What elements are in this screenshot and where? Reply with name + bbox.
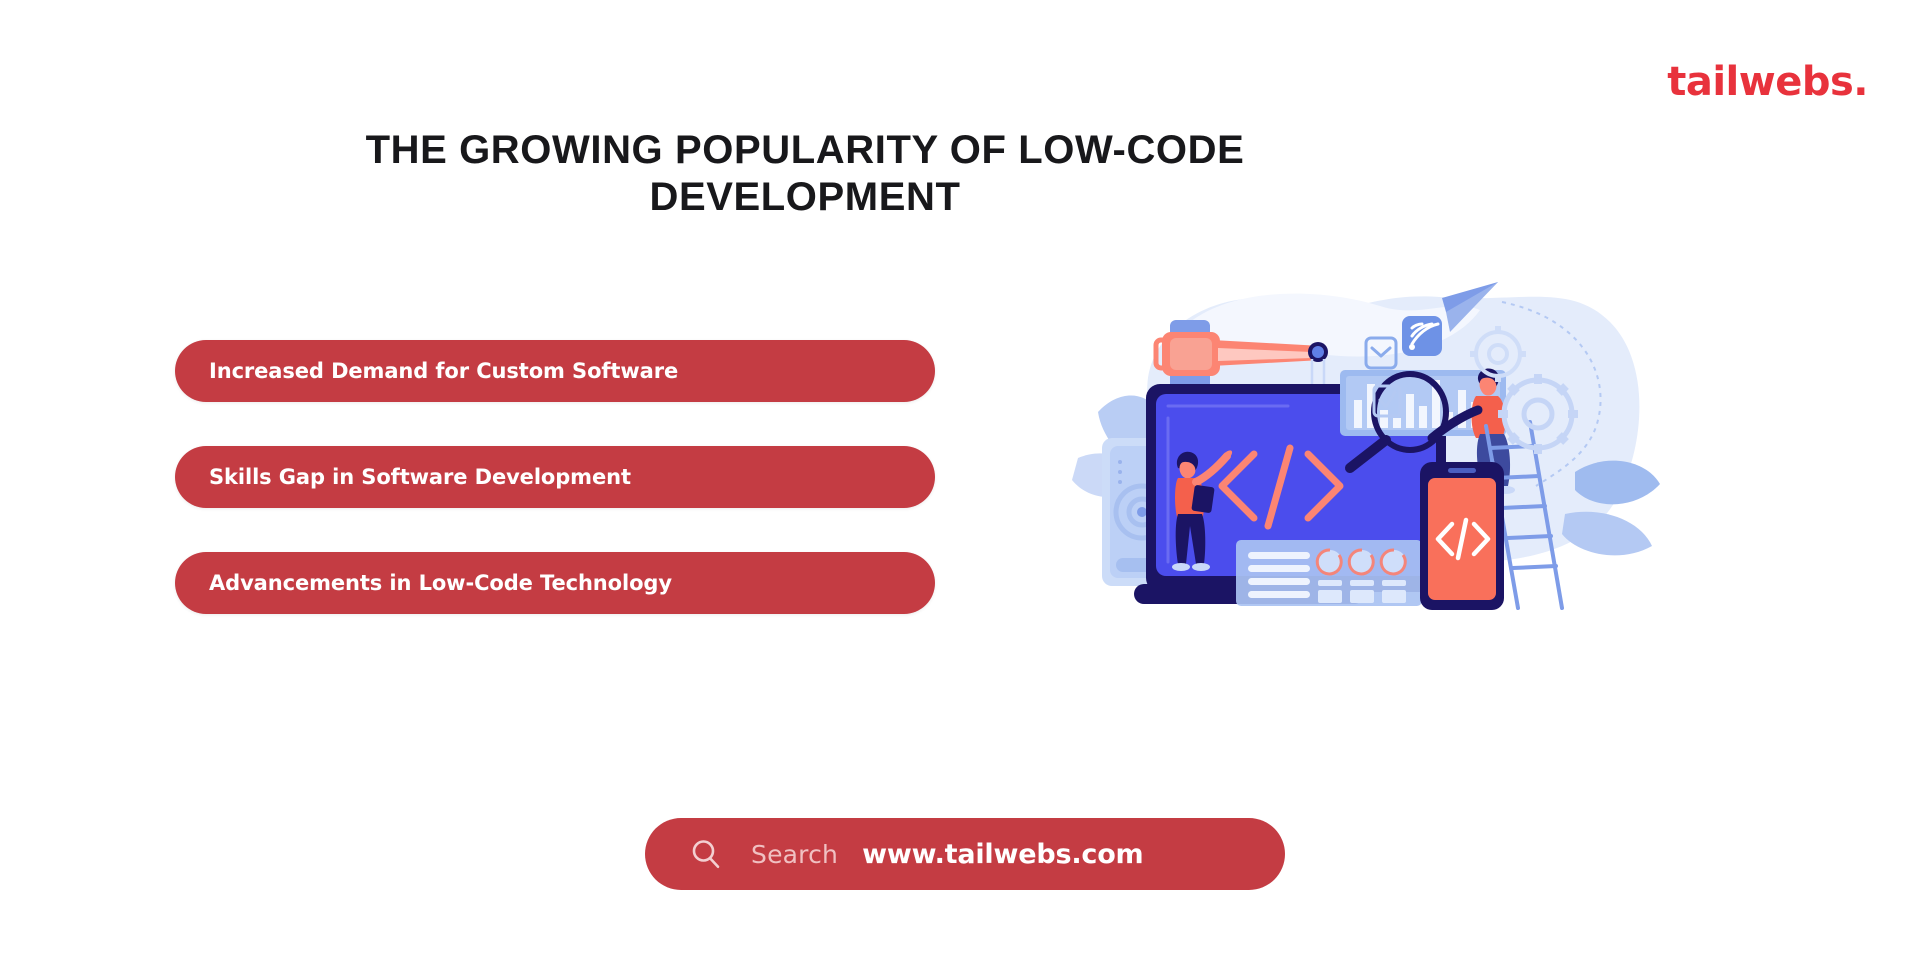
low-code-development-illustration — [1050, 262, 1670, 632]
search-input-placeholder: Search — [751, 840, 838, 869]
search-icon — [689, 837, 723, 871]
key-points-list: Increased Demand for Custom Software Ski… — [175, 340, 935, 614]
wifi-icon — [1402, 316, 1442, 356]
key-point-item-3[interactable]: Advancements in Low-Code Technology — [175, 552, 935, 614]
search-input-value[interactable]: www.tailwebs.com — [862, 839, 1143, 870]
page-title-line-1: THE GROWING POPULARITY OF LOW-CODE — [330, 127, 1280, 174]
progress-rings — [1317, 550, 1406, 574]
key-point-item-1[interactable]: Increased Demand for Custom Software — [175, 340, 935, 402]
dashboard-panel — [1236, 540, 1422, 606]
key-point-item-2[interactable]: Skills Gap in Software Development — [175, 446, 935, 508]
mobile-phone — [1420, 462, 1504, 610]
key-point-label: Increased Demand for Custom Software — [209, 359, 678, 383]
page-title-line-2: DEVELOPMENT — [330, 174, 1280, 221]
search-bar[interactable]: Search www.tailwebs.com — [645, 818, 1285, 890]
page-title: THE GROWING POPULARITY OF LOW-CODE DEVEL… — [330, 127, 1280, 221]
key-point-label: Advancements in Low-Code Technology — [209, 571, 672, 595]
brand-logo: tailwebs. — [1667, 62, 1868, 102]
key-point-label: Skills Gap in Software Development — [209, 465, 631, 489]
